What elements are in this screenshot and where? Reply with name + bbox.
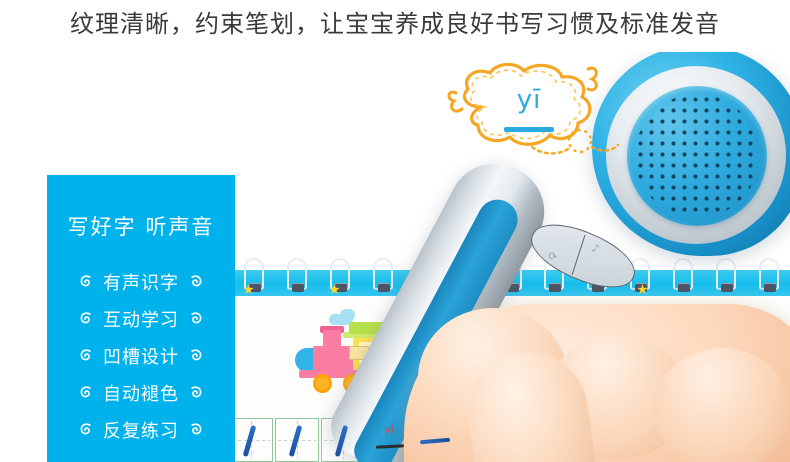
practice-cell xyxy=(275,418,319,462)
pig-arm xyxy=(367,356,387,363)
swirl-right-icon xyxy=(188,422,203,437)
feature-label: 互动学习 xyxy=(103,306,179,332)
sound-icon[interactable]: ♪ xyxy=(590,241,601,256)
speaker-dot-matrix xyxy=(635,94,759,218)
binding-ring xyxy=(630,258,650,290)
model-pinyin-label: yī xyxy=(368,423,410,436)
stroke-mark xyxy=(243,425,257,457)
binding-ring xyxy=(759,258,779,290)
bubble-pinyin: yī xyxy=(446,85,612,115)
product-banner: 纹理清晰，约束笔划，让宝宝养成良好书写习惯及标准发音 P xyxy=(0,0,790,462)
feature-item[interactable]: 有声识字 xyxy=(47,263,235,300)
practice-cell xyxy=(229,418,273,462)
model-stroke-mark xyxy=(376,444,404,448)
feature-item[interactable]: 自动褪色 xyxy=(47,374,235,411)
practice-cell xyxy=(321,418,365,462)
train-wheel xyxy=(313,374,332,393)
finger-knuckle xyxy=(654,348,790,462)
feature-label: 反复练习 xyxy=(103,417,179,443)
train-wheel xyxy=(375,372,399,396)
binding-ring xyxy=(416,258,436,290)
swirl-right-icon xyxy=(188,348,203,363)
bubble-stroke-mark xyxy=(504,127,554,132)
page-title: 纹理清晰，约束笔划，让宝宝养成良好书写习惯及标准发音 xyxy=(0,7,790,41)
feature-list: 有声识字 互动学习 凹槽设计 自动褪色 反复练习 xyxy=(47,263,235,448)
swirl-right-icon xyxy=(188,385,203,400)
stroke-mark xyxy=(335,425,349,457)
stroke-mark xyxy=(289,425,303,457)
binding-ring xyxy=(459,258,479,290)
binding-ring xyxy=(330,258,350,290)
binding-ring xyxy=(244,258,264,290)
feature-item[interactable]: 凹槽设计 xyxy=(47,337,235,374)
swirl-right-icon xyxy=(188,311,203,326)
speaker-grille xyxy=(627,86,767,226)
pen-speaker-bezel xyxy=(606,66,786,244)
feature-item[interactable]: 反复练习 xyxy=(47,411,235,448)
binding-ring xyxy=(287,258,307,290)
swirl-left-icon xyxy=(79,385,94,400)
swirl-left-icon xyxy=(79,311,94,326)
train-wheel xyxy=(343,374,362,393)
swirl-left-icon xyxy=(79,274,94,289)
binding-ring xyxy=(373,258,393,290)
notebook-spiral-binding xyxy=(233,258,790,298)
cloud-puff-icon xyxy=(340,309,355,321)
pen-speaker-housing xyxy=(592,52,790,256)
binding-ring xyxy=(716,258,736,290)
speech-bubble: yī xyxy=(446,63,612,157)
binding-ring xyxy=(587,258,607,290)
feature-label: 有声识字 xyxy=(103,269,179,295)
binding-ring xyxy=(544,258,564,290)
flash-card-icon xyxy=(349,346,369,360)
swirl-right-icon xyxy=(188,274,203,289)
binding-ring xyxy=(673,258,693,290)
binding-ring xyxy=(502,258,522,290)
feature-item[interactable]: 互动学习 xyxy=(47,300,235,337)
feature-label: 自动褪色 xyxy=(103,380,179,406)
swirl-left-icon xyxy=(79,348,94,363)
feature-label: 凹槽设计 xyxy=(103,343,179,369)
swirl-left-icon xyxy=(79,422,94,437)
panel-title: 写好字 听声音 xyxy=(47,211,235,241)
feature-panel: 写好字 听声音 有声识字 互动学习 凹槽设计 自动褪色 xyxy=(47,175,235,462)
train-roof xyxy=(349,322,427,334)
